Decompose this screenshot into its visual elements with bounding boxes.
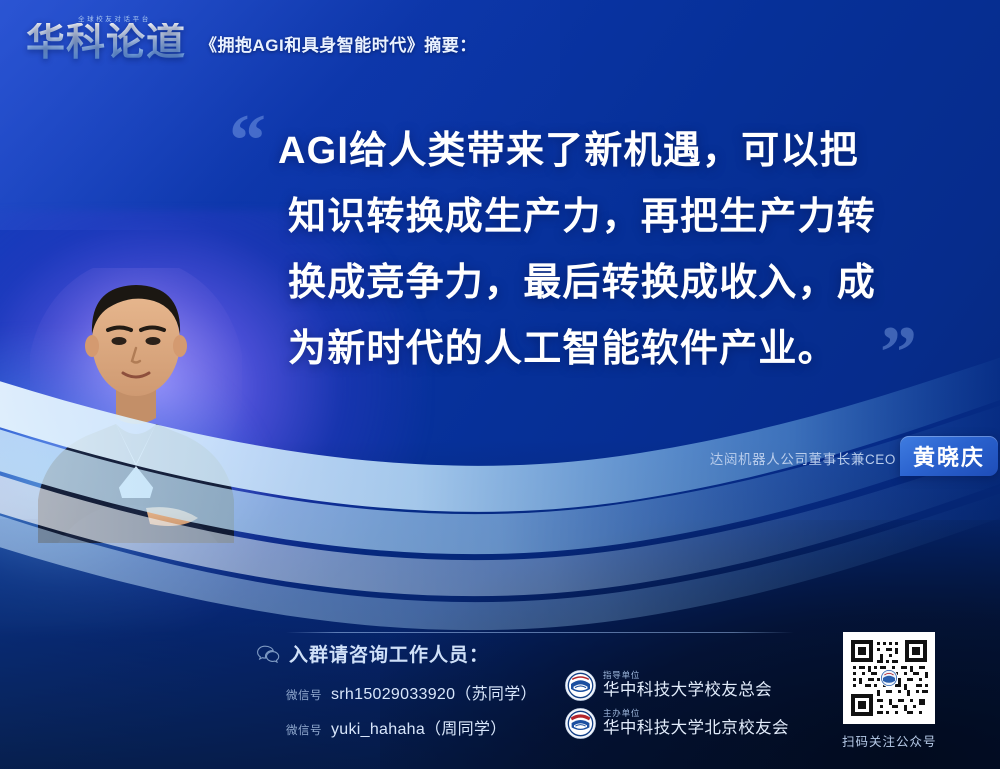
contact-label-1: 微信号 xyxy=(286,687,322,703)
quote-line-4: 为新时代的人工智能软件产业。 xyxy=(278,316,938,382)
header-subtitle: 《拥抱AGI和具身智能时代》摘要： xyxy=(200,31,477,62)
organization-kind-2: 主办单位 xyxy=(603,709,789,718)
footer-divider xyxy=(286,632,794,633)
quote-close-mark: ” xyxy=(880,316,917,390)
logo-wordmark: 华科论道 xyxy=(26,23,186,62)
quote-line-3: 换成竞争力，最后转换成收入，成 xyxy=(278,250,938,316)
quote-open-mark: “ xyxy=(229,104,266,178)
organization-name-2: 华中科技大学北京校友会 xyxy=(603,720,789,737)
header: 全球校友对话平台 华科论道 《拥抱AGI和具身智能时代》摘要： xyxy=(26,14,477,62)
speaker-name: 黄晓庆 xyxy=(913,440,985,472)
speaker-portrait xyxy=(30,268,242,543)
hust-beijing-alumni-seal-icon xyxy=(565,708,596,739)
wechat-icon xyxy=(256,645,280,663)
hust-alumni-seal-icon xyxy=(565,670,596,701)
organization-row-1: 指导单位 华中科技大学校友总会 xyxy=(565,670,772,701)
organization-name-1: 华中科技大学校友总会 xyxy=(603,682,772,699)
organization-kind-1: 指导单位 xyxy=(603,671,772,680)
contact-label-2: 微信号 xyxy=(286,722,322,738)
qr-code[interactable] xyxy=(843,632,935,724)
attribution: 达闼机器人公司董事长兼CEO 黄晓庆 xyxy=(710,448,912,468)
contact-row-2: 微信号 yuki_hahaha（周同学） xyxy=(286,715,507,739)
contact-value-1[interactable]: srh15029033920（苏同学） xyxy=(331,680,537,704)
organization-row-2: 主办单位 华中科技大学北京校友会 xyxy=(565,708,789,739)
quote-text: AGI给人类带来了新机遇，可以把 知识转换成生产力，再把生产力转 换成竞争力，最… xyxy=(278,118,938,382)
quote-line-1: AGI给人类带来了新机遇，可以把 xyxy=(278,118,938,184)
contact-row-1: 微信号 srh15029033920（苏同学） xyxy=(286,680,537,704)
qr-section: 扫码关注公众号 xyxy=(842,632,937,750)
logo-tagline: 全球校友对话平台 xyxy=(78,13,151,23)
speaker-role: 达闼机器人公司董事长兼CEO xyxy=(710,448,896,468)
footer-title: 入群请咨询工作人员： xyxy=(289,640,489,667)
poster-canvas: 全球校友对话平台 华科论道 《拥抱AGI和具身智能时代》摘要： xyxy=(0,0,1000,769)
brand-logo: 全球校友对话平台 华科论道 xyxy=(26,14,186,62)
quote-line-2: 知识转换成生产力，再把生产力转 xyxy=(278,184,938,250)
qr-caption: 扫码关注公众号 xyxy=(842,731,937,750)
contact-value-2[interactable]: yuki_hahaha（周同学） xyxy=(331,715,507,739)
speaker-name-badge: 黄晓庆 xyxy=(900,436,998,476)
